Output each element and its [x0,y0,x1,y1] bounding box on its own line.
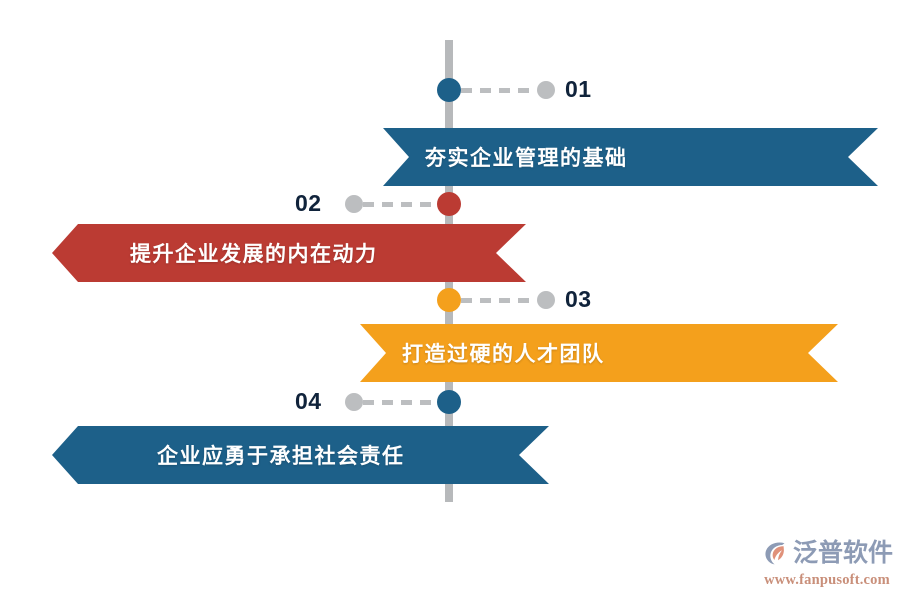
step-label-03: 打造过硬的人才团队 [402,338,605,368]
fanpu-c-leaf-logo-icon [762,539,790,567]
step-number-03: 03 [565,284,592,314]
node-dot-step-02[interactable] [437,192,461,216]
node-dot-step-01[interactable] [437,78,461,102]
connector-step-01: 01 [437,78,637,102]
step-label-01: 夯实企业管理的基础 [425,142,628,172]
step-label-04: 企业应勇于承担社会责任 [157,440,405,470]
step-banner-02[interactable]: 提升企业发展的内在动力 [52,224,526,282]
dashed-line-icon-step-01 [461,88,537,93]
step-banner-01[interactable]: 夯实企业管理的基础 [383,128,878,186]
node-dot-step-04[interactable] [437,390,461,414]
gray-circle-node-step-01 [537,81,555,99]
gray-circle-node-step-04 [345,393,363,411]
gray-circle-node-step-02 [345,195,363,213]
step-label-02: 提升企业发展的内在动力 [130,238,378,268]
step-banner-03[interactable]: 打造过硬的人才团队 [360,324,838,382]
connector-step-02: 02 [295,192,461,216]
connector-step-04: 04 [295,390,461,414]
brand-logo[interactable]: 泛普软件 www.fanpusoft.com [762,536,892,594]
logo-company-name: 泛普软件 [793,538,893,568]
dashed-line-icon-step-03 [461,298,537,303]
logo-website-url: www.fanpusoft.com [762,570,892,590]
step-number-02: 02 [295,188,322,218]
gray-circle-node-step-03 [537,291,555,309]
dashed-line-icon-step-04 [363,400,440,405]
step-banner-04[interactable]: 企业应勇于承担社会责任 [52,426,549,484]
step-number-04: 04 [295,386,322,416]
dashed-line-icon-step-02 [363,202,440,207]
logo-top-row: 泛普软件 [762,536,892,570]
connector-step-03: 03 [437,288,637,312]
node-dot-step-03[interactable] [437,288,461,312]
infographic-canvas: 01 夯实企业管理的基础 02 提升企业发展的内在动力 03 打造过硬的人才团队… [0,0,900,600]
step-number-01: 01 [565,74,592,104]
